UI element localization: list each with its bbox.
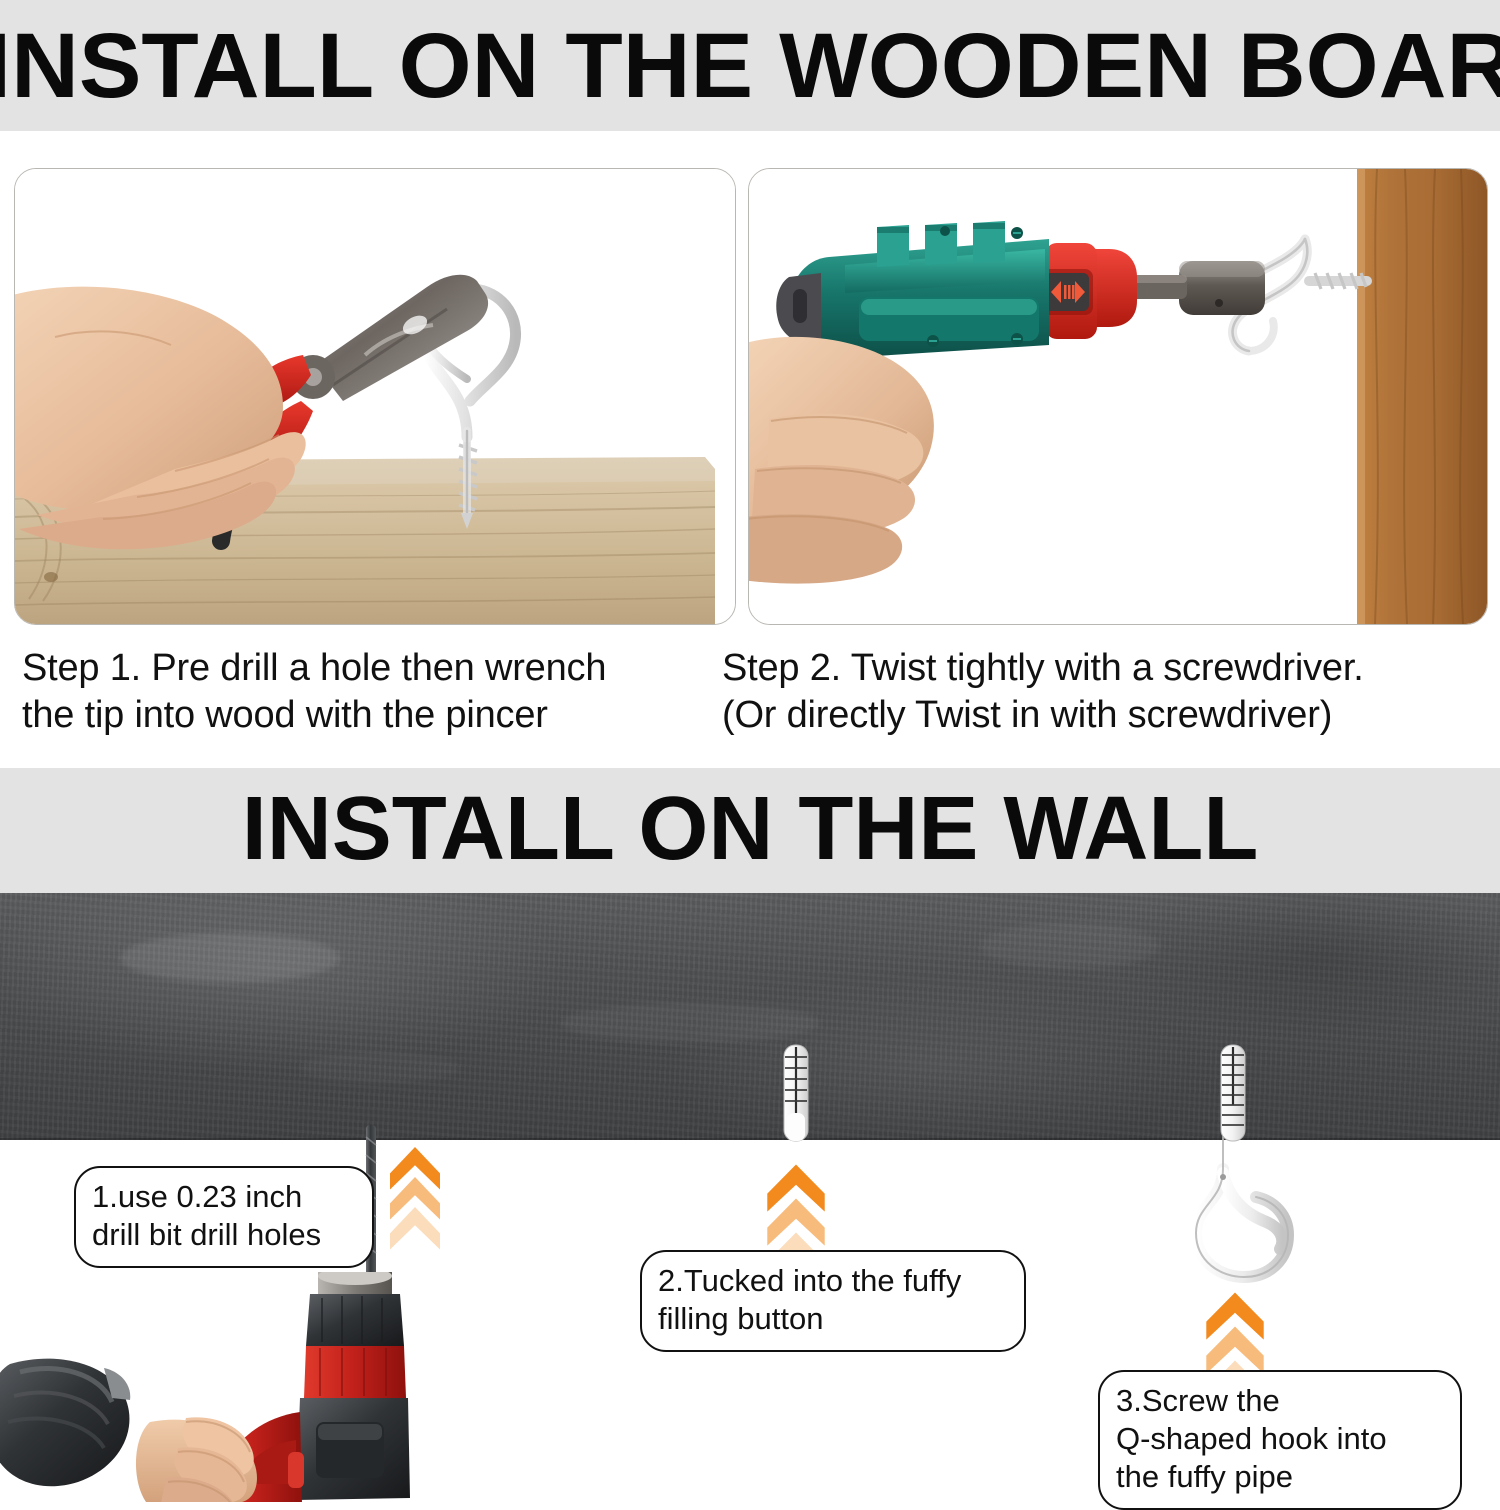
wall-anchor-plug-icon: [775, 1043, 817, 1143]
callout-step-1: 1.use 0.23 inch drill bit drill holes: [74, 1166, 374, 1268]
wall-anchor-plug-icon-2: [1212, 1043, 1254, 1143]
callout-step-2: 2.Tucked into the fuffy filling button: [640, 1250, 1026, 1352]
step-1-caption: Step 1. Pre drill a hole then wrench the…: [22, 645, 722, 739]
section-header-wooden-board: INSTALL ON THE WOODEN BOARD: [0, 0, 1500, 131]
power-drill-icon: [0, 1272, 430, 1502]
power-screwdriver-hook-plank-illustration: [749, 169, 1487, 624]
chevron-group-step-1: [388, 1143, 442, 1253]
concrete-wall-strip: [0, 893, 1500, 1140]
heading-install-on-wall: INSTALL ON THE WALL: [0, 770, 1500, 888]
q-shaped-hook-icon: [1188, 1135, 1306, 1287]
step-2-caption: Step 2. Twist tightly with a screwdriver…: [722, 645, 1500, 739]
step-2-photo-panel: [748, 168, 1488, 625]
callout-step-3: 3.Screw the Q-shaped hook into the fuffy…: [1098, 1370, 1462, 1510]
heading-install-on-wooden-board: INSTALL ON THE WOODEN BOARD: [0, 6, 1500, 126]
step-1-photo-panel: [14, 168, 736, 625]
pliers-wood-hook-illustration: [15, 169, 735, 624]
section-header-wall: INSTALL ON THE WALL: [0, 768, 1500, 893]
chevron-up-icon: [388, 1203, 442, 1254]
